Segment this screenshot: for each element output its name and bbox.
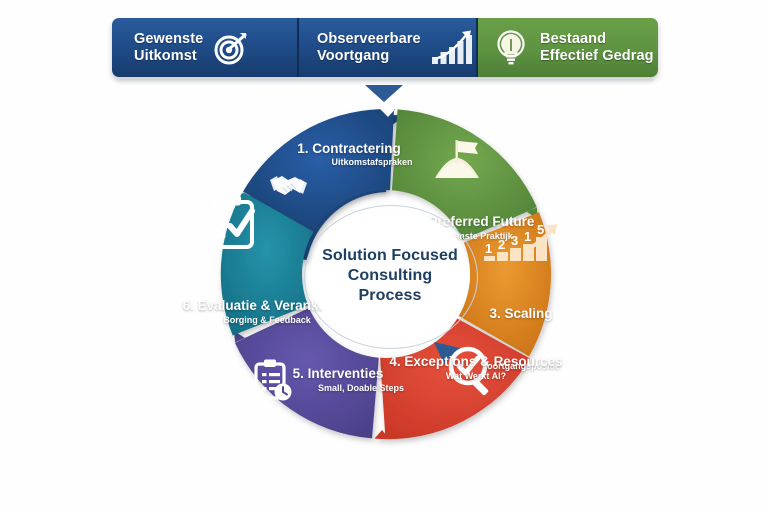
- banner-panel-observeerbare-voortgang[interactable]: Observeerbare Voortgang: [299, 18, 478, 77]
- svg-text:5: 5: [537, 222, 544, 237]
- lightbulb-icon: [494, 29, 528, 67]
- header-banner: Gewenste Uitkomst Observeerbare Voortg: [112, 18, 658, 77]
- banner-panel-1-line1: Gewenste: [134, 31, 203, 48]
- center-line-2: Consulting: [322, 266, 458, 286]
- svg-text:1: 1: [524, 229, 531, 244]
- banner-panel-3-line1: Bestaand: [540, 31, 654, 48]
- svg-text:1: 1: [485, 241, 492, 256]
- connector-triangle-icon: [365, 85, 403, 102]
- banner-panel-2-text: Observeerbare Voortgang: [317, 31, 421, 65]
- banner-panel-2-line2: Voortgang: [317, 48, 421, 65]
- banner-wheel-connector: [0, 85, 768, 101]
- banner-panel-2-line1: Observeerbare: [317, 31, 421, 48]
- bar-chart-growth-icon: [431, 29, 475, 67]
- banner-panel-gewenste-uitkomst[interactable]: Gewenste Uitkomst: [112, 18, 299, 77]
- banner-panel-bestaand-effectief-gedrag[interactable]: Bestaand Effectief Gedrag: [478, 18, 658, 77]
- banner-panel-3-line2: Effectief Gedrag: [540, 48, 654, 65]
- infographic-canvas: Gewenste Uitkomst Observeerbare Voortg: [0, 0, 768, 512]
- wheel-center: Solution Focused Consulting Process: [310, 210, 470, 342]
- center-line-1: Solution Focused: [322, 246, 458, 266]
- svg-text:3: 3: [511, 233, 518, 248]
- banner-panel-1-text: Gewenste Uitkomst: [134, 31, 203, 65]
- banner-panel-3-text: Bestaand Effectief Gedrag: [540, 31, 654, 65]
- svg-text:2: 2: [498, 237, 505, 252]
- wheel-center-title: Solution Focused Consulting Process: [322, 246, 458, 306]
- target-icon: [213, 30, 249, 66]
- process-wheel: 123 15: [188, 106, 584, 442]
- banner-panel-1-line2: Uitkomst: [134, 48, 203, 65]
- center-line-3: Process: [322, 286, 458, 306]
